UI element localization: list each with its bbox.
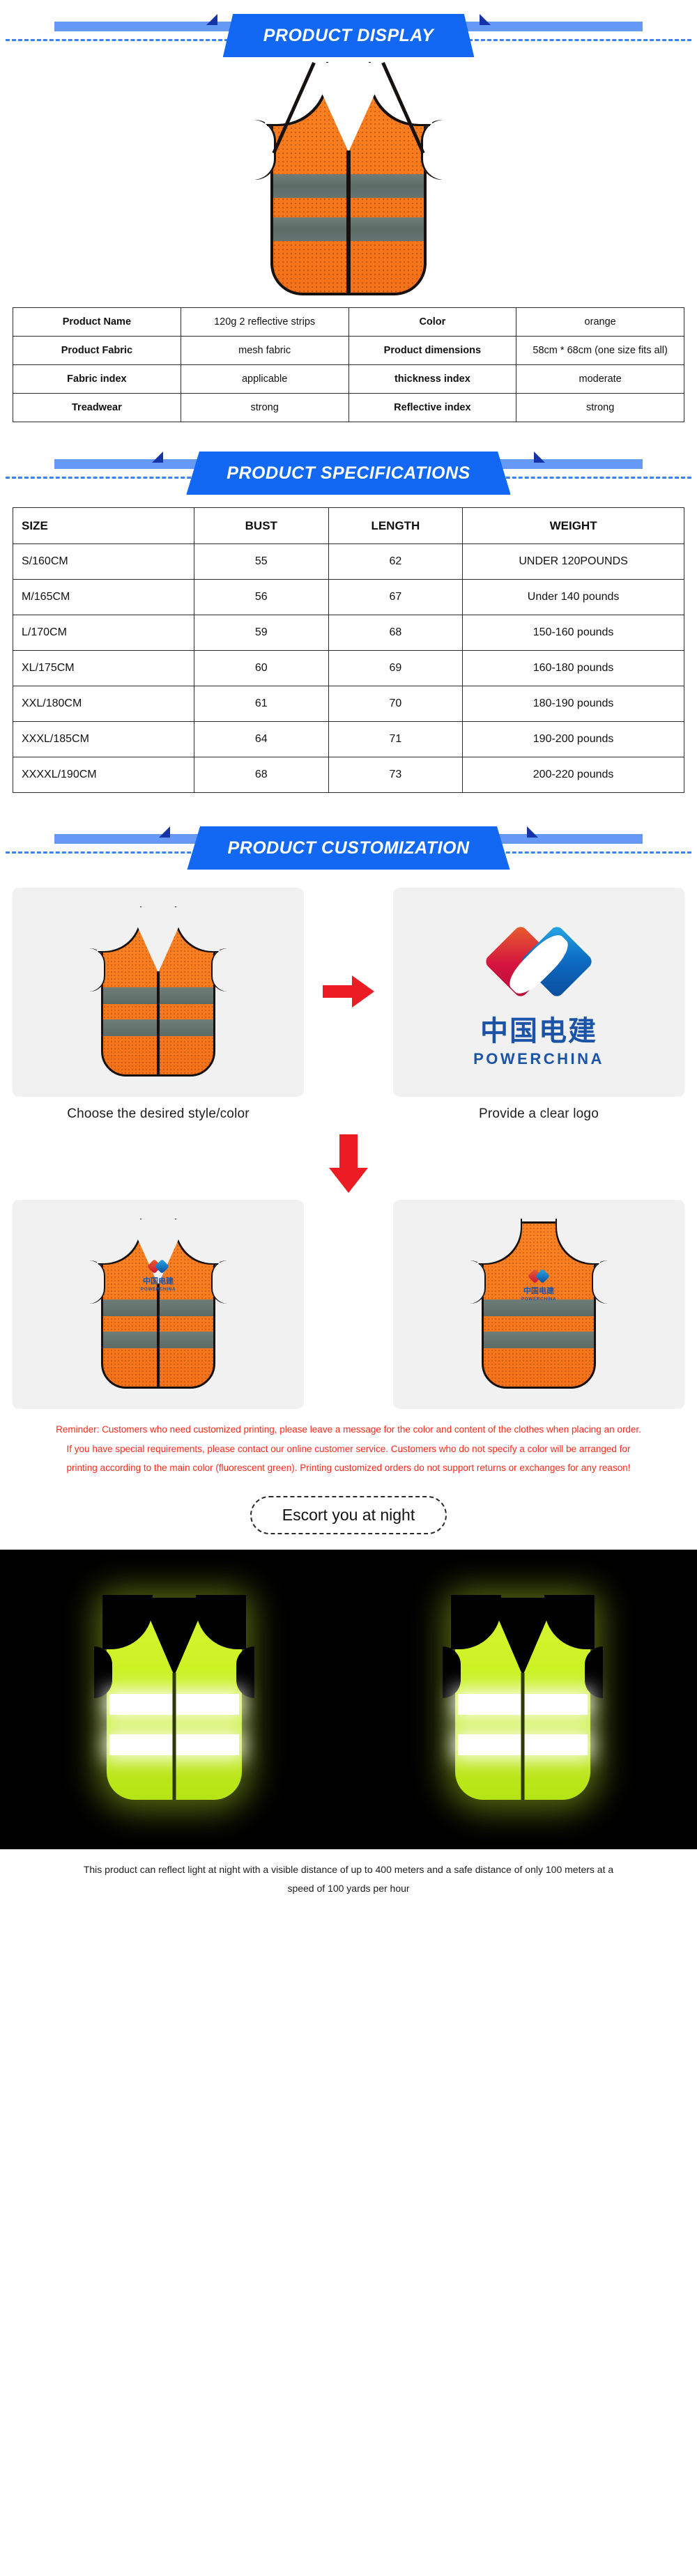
cell-weight: 190-200 pounds [463,722,684,757]
info-key: Product Fabric [13,337,181,365]
info-key: Product Name [13,308,181,337]
printed-logo-small: 中国电建 POWERCHINA [521,1267,556,1302]
info-key: Product dimensions [348,337,516,365]
cell-length: 70 [328,686,463,722]
vest-zipper [521,1673,525,1800]
customization-style-cell: Choose the desired style/color [13,888,304,1122]
table-row: XXXXL/190CM 68 73 200-220 pounds [13,757,684,793]
banner-notch-right-icon [527,826,538,838]
logo-text-chinese: 中国电建 [141,1278,176,1286]
cell-bust: 55 [194,544,329,580]
powerchina-diamond-icon [493,917,585,1009]
info-value: strong [516,394,684,422]
section-banner-product-customization: PRODUCT CUSTOMIZATION [0,812,697,872]
powerchina-diamond-icon [149,1258,167,1276]
section-banner-product-display: PRODUCT DISPLAY [0,0,697,60]
table-header-row: SIZE BUST LENGTH WEIGHT [13,508,684,544]
caption-choose-style: Choose the desired style/color [13,1097,304,1122]
customization-row-top: Choose the desired style/color 中国电建 POWE… [13,888,684,1122]
vest-armhole-right [211,948,227,992]
cell-size: XXXL/185CM [13,722,194,757]
info-value: 120g 2 reflective strips [181,308,348,337]
vest-thumbnail-plain [90,905,227,1079]
cell-bust: 60 [194,651,329,686]
banner-notch-right-icon [480,14,491,25]
vest-armhole-right [421,120,442,180]
size-chart-table: SIZE BUST LENGTH WEIGHT S/160CM 55 62 UN… [13,507,684,793]
info-key: Reflective index [348,394,516,422]
arrow-down-icon [329,1134,368,1193]
reflective-vest-illustration [255,60,442,300]
cell-length: 62 [328,544,463,580]
glowing-vest-left [94,1595,254,1804]
size-table-wrap: SIZE BUST LENGTH WEIGHT S/160CM 55 62 UN… [0,498,697,793]
info-key: Color [348,308,516,337]
cell-bust: 59 [194,615,329,651]
logo-preview-panel[interactable]: 中国电建 POWERCHINA [393,888,684,1097]
vest-armhole-right [211,1260,227,1304]
cell-weight: 200-220 pounds [463,757,684,793]
vest-armhole-right [236,1646,254,1698]
powerchina-diamond-icon [530,1267,548,1286]
cell-size: L/170CM [13,615,194,651]
logo-text-chinese: 中国电建 [521,1288,556,1295]
footer-reflectivity-note: This product can reflect light at night … [0,1849,697,1913]
info-key: Fabric index [13,365,181,394]
table-row: XXXL/185CM 64 71 190-200 pounds [13,722,684,757]
info-value: 58cm * 68cm (one size fits all) [516,337,684,365]
cell-bust: 61 [194,686,329,722]
table-row: Product Name 120g 2 reflective strips Co… [13,308,684,337]
table-row: Treadwear strong Reflective index strong [13,394,684,422]
logo-text-english: POWERCHINA [141,1287,176,1292]
escort-pill-wrap: Escort you at night [0,1478,697,1550]
vest-neck-opening [129,907,187,973]
table-row: XXL/180CM 61 70 180-190 pounds [13,686,684,722]
cell-length: 69 [328,651,463,686]
cell-weight: Under 140 pounds [463,580,684,615]
customization-result-back-cell: 中国电建 POWERCHINA [393,1200,684,1409]
cell-weight: 180-190 pounds [463,686,684,722]
table-row: M/165CM 56 67 Under 140 pounds [13,580,684,615]
table-row: L/170CM 59 68 150-160 pounds [13,615,684,651]
banner-title-product-customization: PRODUCT CUSTOMIZATION [187,826,510,870]
vest-zipper [157,1283,160,1389]
info-value: mesh fabric [181,337,348,365]
customization-section: Choose the desired style/color 中国电建 POWE… [0,872,697,1478]
cell-size: XXL/180CM [13,686,194,722]
logo-text-chinese: 中国电建 [473,1017,604,1045]
result-preview-panel-front[interactable]: 中国电建 POWERCHINA [13,1200,304,1409]
vest-zipper [173,1673,176,1800]
table-row: S/160CM 55 62 UNDER 120POUNDS [13,544,684,580]
cell-size: XL/175CM [13,651,194,686]
cell-weight: UNDER 120POUNDS [463,544,684,580]
info-value: applicable [181,365,348,394]
vest-neck-opening [141,1598,208,1676]
banner-notch-right-icon [534,452,545,463]
cell-bust: 64 [194,722,329,757]
table-row: Product Fabric mesh fabric Product dimen… [13,337,684,365]
vest-thumbnail-printed-front: 中国电建 POWERCHINA [90,1217,227,1391]
column-header-size: SIZE [13,508,194,544]
cell-length: 67 [328,580,463,615]
info-value: strong [181,394,348,422]
banner-title-product-specifications: PRODUCT SPECIFICATIONS [186,452,510,495]
night-reflectivity-demo [0,1550,697,1849]
logo-text-english: POWERCHINA [521,1297,556,1302]
table-row: Fabric index applicable thickness index … [13,365,684,394]
cell-length: 71 [328,722,463,757]
printed-logo-small: 中国电建 POWERCHINA [141,1258,176,1292]
cell-size: M/165CM [13,580,194,615]
vest-armhole-right [585,1646,603,1698]
cell-bust: 56 [194,580,329,615]
vest-zipper [346,151,351,295]
customization-result-front-cell: 中国电建 POWERCHINA [13,1200,304,1409]
product-info-table: Product Name 120g 2 reflective strips Co… [13,307,684,422]
info-key: thickness index [348,365,516,394]
caption-provide-logo: Provide a clear logo [393,1097,684,1122]
powerchina-logo: 中国电建 POWERCHINA [473,917,604,1068]
vest-zipper [157,971,160,1077]
customization-reminder-text: Reminder: Customers who need customized … [13,1409,684,1478]
column-header-bust: BUST [194,508,329,544]
info-value: orange [516,308,684,337]
customization-row-bottom: 中国电建 POWERCHINA [13,1200,684,1409]
vest-reflective-strip-lower [484,1332,594,1348]
cell-size: XXXXL/190CM [13,757,194,793]
column-header-weight: WEIGHT [463,508,684,544]
vest-armhole-right [592,1260,607,1304]
customization-logo-cell: 中国电建 POWERCHINA Provide a clear logo [393,888,684,1122]
vest-neck-opening [308,63,389,152]
cell-length: 68 [328,615,463,651]
arrow-right-icon [323,975,374,1008]
product-detail-page: PRODUCT DISPLAY Product Name 120g 2 refl… [0,0,697,2576]
table-row: XL/175CM 60 69 160-180 pounds [13,651,684,686]
vest-reflective-strip-upper [484,1299,594,1316]
style-preview-panel[interactable] [13,888,304,1097]
result-preview-panel-back[interactable]: 中国电建 POWERCHINA [393,1200,684,1409]
section-banner-product-specifications: PRODUCT SPECIFICATIONS [0,438,697,498]
hero-product-image [0,60,697,307]
cell-bust: 68 [194,757,329,793]
cell-size: S/160CM [13,544,194,580]
product-info-table-wrap: Product Name 120g 2 reflective strips Co… [0,307,697,422]
cell-length: 73 [328,757,463,793]
escort-at-night-label: Escort you at night [250,1496,447,1534]
info-value: moderate [516,365,684,394]
logo-text-english: POWERCHINA [473,1050,604,1068]
glowing-vest-right [443,1595,603,1804]
cell-weight: 150-160 pounds [463,615,684,651]
column-header-length: LENGTH [328,508,463,544]
cell-weight: 160-180 pounds [463,651,684,686]
banner-title-product-display: PRODUCT DISPLAY [223,14,475,57]
info-key: Treadwear [13,394,181,422]
vest-neck-opening [489,1598,556,1676]
vest-thumbnail-printed-back: 中国电建 POWERCHINA [470,1217,607,1391]
